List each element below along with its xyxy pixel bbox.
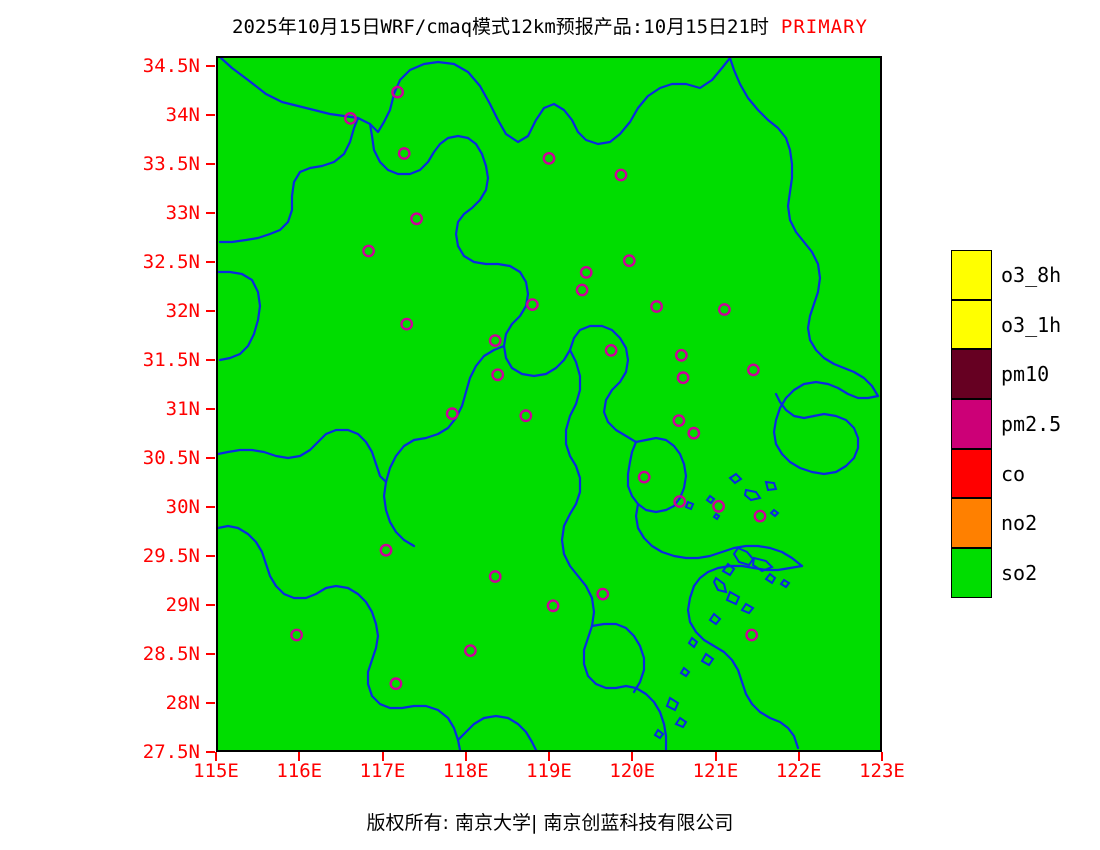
y-axis-tick-mark xyxy=(206,114,215,116)
x-axis-tick-label: 115E xyxy=(193,760,239,782)
copyright-footer: 版权所有: 南京大学| 南京创蓝科技有限公司 xyxy=(0,808,1100,835)
legend-item-label: o3_8h xyxy=(1001,263,1061,287)
y-axis-tick-label: 33N xyxy=(60,202,200,224)
y-axis-tick-mark xyxy=(206,702,215,704)
legend-item-label: o3_1h xyxy=(1001,313,1061,337)
legend-item-o3-1h[interactable]: o3_1h xyxy=(951,300,1091,350)
y-axis-tick-label: 30N xyxy=(60,496,200,518)
legend-item-so2[interactable]: so2 xyxy=(951,548,1091,598)
y-axis-tick-mark xyxy=(206,310,215,312)
legend-color-swatch xyxy=(951,449,992,499)
x-axis-tick-label: 123E xyxy=(859,760,905,782)
y-axis-tick-mark xyxy=(206,555,215,557)
map-plot-area[interactable] xyxy=(216,56,882,752)
y-axis-tick-label: 34.5N xyxy=(60,55,200,77)
title-primary-badge: PRIMARY xyxy=(781,16,868,38)
y-axis-tick-label: 29.5N xyxy=(60,545,200,567)
y-axis-tick-label: 33.5N xyxy=(60,153,200,175)
map-canvas xyxy=(218,58,880,750)
y-axis-tick-label: 32N xyxy=(60,300,200,322)
y-axis-tick-mark xyxy=(206,408,215,410)
x-axis-tick-label: 116E xyxy=(276,760,322,782)
y-axis-tick-mark xyxy=(206,506,215,508)
legend-item-label: pm2.5 xyxy=(1001,412,1061,436)
y-axis-tick-label: 28.5N xyxy=(60,643,200,665)
y-axis-tick-label: 34N xyxy=(60,104,200,126)
y-axis-tick-label: 27.5N xyxy=(60,741,200,763)
y-axis-tick-mark xyxy=(206,457,215,459)
y-axis-tick-label: 31.5N xyxy=(60,349,200,371)
legend-color-swatch xyxy=(951,300,992,350)
legend-color-swatch xyxy=(951,498,992,548)
x-axis-tick-label: 121E xyxy=(693,760,739,782)
y-axis-tick-mark xyxy=(206,653,215,655)
x-axis-tick-mark xyxy=(298,752,300,761)
y-axis-tick-mark xyxy=(206,163,215,165)
x-axis-tick-mark xyxy=(798,752,800,761)
legend-item-o3-8h[interactable]: o3_8h xyxy=(951,250,1091,300)
y-axis-tick-mark xyxy=(206,359,215,361)
x-axis-tick-label: 119E xyxy=(526,760,572,782)
x-axis-tick-label: 118E xyxy=(443,760,489,782)
legend-item-pm2-5[interactable]: pm2.5 xyxy=(951,399,1091,449)
x-axis-tick-label: 117E xyxy=(360,760,406,782)
y-axis-tick-mark xyxy=(206,751,215,753)
x-axis-tick-mark xyxy=(548,752,550,761)
legend-item-no2[interactable]: no2 xyxy=(951,498,1091,548)
x-axis-tick-label: 122E xyxy=(776,760,822,782)
x-axis-tick-mark xyxy=(465,752,467,761)
legend-color-swatch xyxy=(951,399,992,449)
legend-item-label: so2 xyxy=(1001,561,1037,585)
x-axis-tick-label: 120E xyxy=(609,760,655,782)
x-axis-tick-mark xyxy=(715,752,717,761)
pollutant-legend[interactable]: o3_8ho3_1hpm10pm2.5cono2so2 xyxy=(951,250,1091,598)
y-axis-tick-label: 32.5N xyxy=(60,251,200,273)
y-axis-tick-mark xyxy=(206,604,215,606)
y-axis-tick-label: 30.5N xyxy=(60,447,200,469)
y-axis-tick-mark xyxy=(206,65,215,67)
legend-color-swatch xyxy=(951,349,992,399)
legend-color-swatch xyxy=(951,250,992,300)
y-axis-tick-mark xyxy=(206,261,215,263)
chart-title: 2025年10月15日WRF/cmaq模式12km预报产品:10月15日21时P… xyxy=(0,12,1100,39)
y-axis-tick-label: 31N xyxy=(60,398,200,420)
y-axis-tick-mark xyxy=(206,212,215,214)
legend-color-swatch xyxy=(951,548,992,598)
x-axis-tick-mark xyxy=(382,752,384,761)
legend-item-co[interactable]: co xyxy=(951,449,1091,499)
y-axis-tick-label: 28N xyxy=(60,692,200,714)
x-axis-tick-mark xyxy=(631,752,633,761)
x-axis-tick-mark xyxy=(881,752,883,761)
x-axis-tick-mark xyxy=(215,752,217,761)
legend-item-label: no2 xyxy=(1001,511,1037,535)
legend-item-pm10[interactable]: pm10 xyxy=(951,349,1091,399)
legend-item-label: pm10 xyxy=(1001,362,1049,386)
legend-item-label: co xyxy=(1001,462,1025,486)
y-axis-tick-label: 29N xyxy=(60,594,200,616)
title-main-text: 2025年10月15日WRF/cmaq模式12km预报产品:10月15日21时 xyxy=(232,16,769,38)
